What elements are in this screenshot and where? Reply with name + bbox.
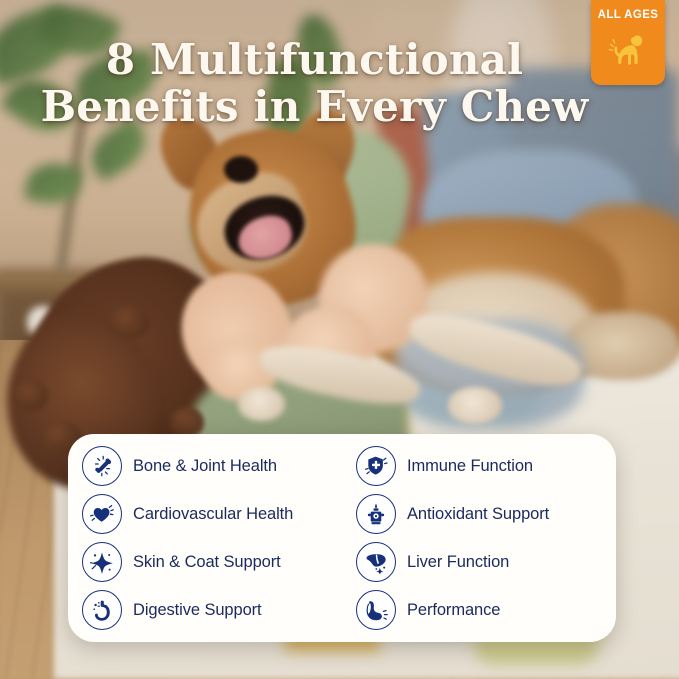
benefit-label: Skin & Coat Support: [133, 553, 281, 572]
benefit-bone-joint-health: Bone & Joint Health: [68, 442, 342, 490]
benefit-label: Immune Function: [407, 457, 533, 476]
antioxidant-molecule-icon: [356, 494, 396, 534]
promo-image: 8 Multifunctional Benefits in Every Chew…: [0, 0, 679, 679]
benefit-performance: Performance: [342, 586, 616, 634]
benefit-liver-function: Liver Function: [342, 538, 616, 586]
shield-plus-icon: [356, 446, 396, 486]
all-ages-badge-label: ALL AGES: [598, 9, 659, 21]
benefit-label: Cardiovascular Health: [133, 505, 293, 524]
benefit-digestive-support: Digestive Support: [68, 586, 342, 634]
sparkle-star-icon: [82, 542, 122, 582]
sitting-dog-icon: [605, 25, 651, 71]
all-ages-badge: ALL AGES: [591, 0, 665, 85]
benefit-label: Performance: [407, 601, 500, 620]
stomach-icon: [82, 590, 122, 630]
muscle-flex-icon: [356, 590, 396, 630]
benefit-label: Antioxidant Support: [407, 505, 549, 524]
benefit-label: Liver Function: [407, 553, 509, 572]
benefit-label: Digestive Support: [133, 601, 262, 620]
heart-pulse-icon: [82, 494, 122, 534]
benefit-cardiovascular-health: Cardiovascular Health: [68, 490, 342, 538]
benefits-card: Bone & Joint Health Immune Function: [68, 434, 616, 642]
liver-sparkle-icon: [356, 542, 396, 582]
benefit-skin-coat-support: Skin & Coat Support: [68, 538, 342, 586]
benefit-label: Bone & Joint Health: [133, 457, 277, 476]
benefit-immune-function: Immune Function: [342, 442, 616, 490]
bone-sparkle-icon: [82, 446, 122, 486]
page-title: 8 Multifunctional Benefits in Every Chew: [0, 36, 679, 130]
benefit-antioxidant-support: Antioxidant Support: [342, 490, 616, 538]
